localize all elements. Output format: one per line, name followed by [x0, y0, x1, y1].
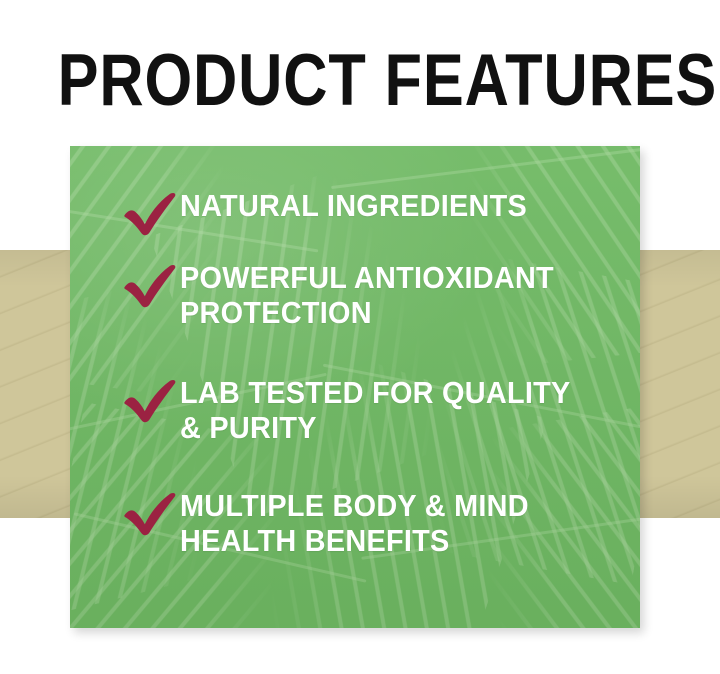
check-icon	[122, 377, 180, 425]
list-item-label: MULTIPLE BODY & MIND HEALTH BENEFITS	[180, 488, 591, 558]
list-item: NATURAL INGREDIENTS	[122, 188, 622, 238]
list-item: MULTIPLE BODY & MIND HEALTH BENEFITS	[122, 488, 622, 558]
list-item-label: POWERFUL ANTIOXIDANT PROTECTION	[180, 260, 591, 330]
product-features-card: NATURAL INGREDIENTS POWERFUL ANTIOXIDANT…	[70, 146, 640, 628]
check-icon	[122, 490, 180, 538]
check-icon	[122, 190, 180, 238]
check-icon	[122, 262, 180, 310]
feature-list: NATURAL INGREDIENTS POWERFUL ANTIOXIDANT…	[70, 146, 640, 628]
list-item: POWERFUL ANTIOXIDANT PROTECTION	[122, 260, 622, 330]
list-item: LAB TESTED FOR QUALITY & PURITY	[122, 375, 622, 445]
page-title: PRODUCT FEATURES	[58, 44, 663, 118]
list-item-label: NATURAL INGREDIENTS	[180, 188, 591, 223]
list-item-label: LAB TESTED FOR QUALITY & PURITY	[180, 375, 591, 445]
